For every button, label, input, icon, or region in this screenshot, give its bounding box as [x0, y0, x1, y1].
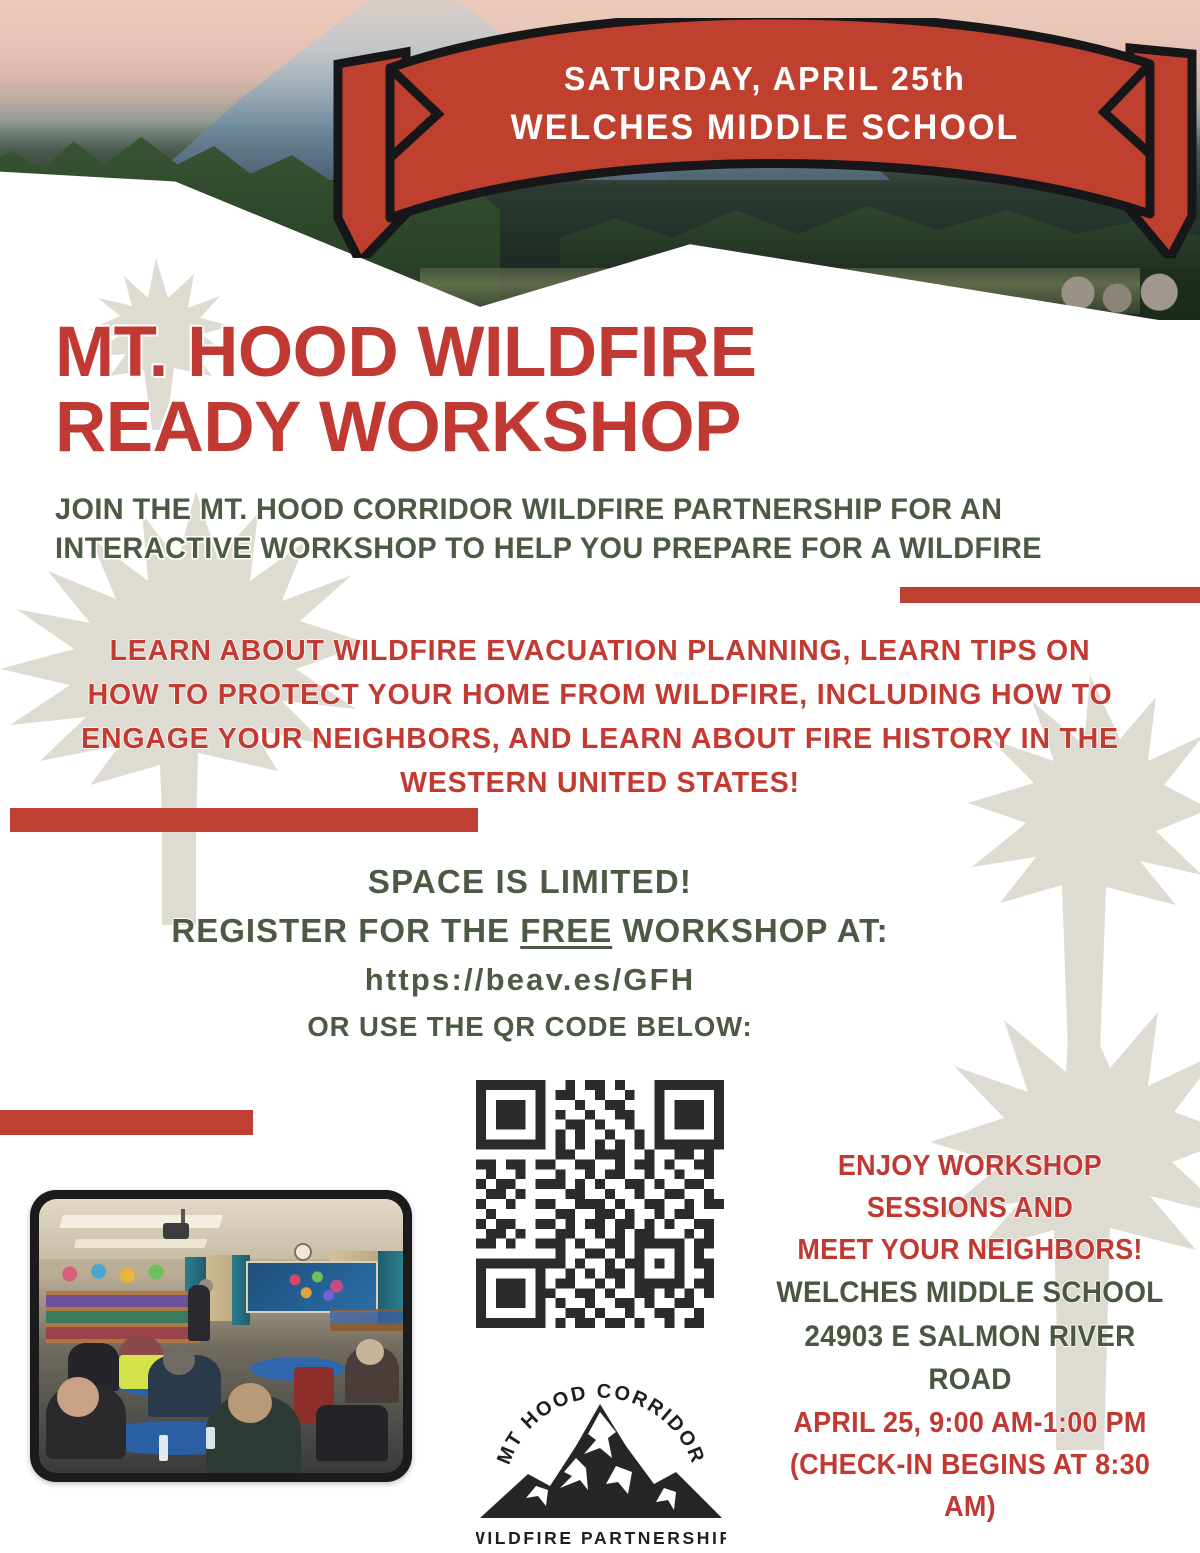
photo-slide-map: [279, 1269, 359, 1305]
photo-attendee-3-head: [228, 1383, 272, 1423]
subtitle: JOIN THE MT. HOOD CORRIDOR WILDFIRE PART…: [55, 490, 1133, 568]
page-title-line2: READY WORKSHOP: [55, 390, 955, 465]
banner-text-block: SATURDAY, APRIL 25th WELCHES MIDDLE SCHO…: [343, 56, 1187, 153]
info-datetime: APRIL 25, 9:00 AM-1:00 PM: [775, 1402, 1166, 1444]
classroom-photo-frame: [30, 1190, 412, 1482]
body-line2: HOW TO PROTECT YOUR HOME FROM WILDFIRE, …: [30, 674, 1170, 718]
subtitle-line2: INTERACTIVE WORKSHOP TO HELP YOU PREPARE…: [55, 529, 1133, 568]
photo-attendee-2-head: [163, 1345, 195, 1375]
photo-ceiling-light-2: [74, 1239, 208, 1248]
photo-presenter: [188, 1285, 210, 1341]
info-line-1: ENJOY WORKSHOP SESSIONS AND: [775, 1145, 1166, 1229]
register-instruction: REGISTER FOR THE FREE WORKSHOP AT:: [150, 906, 910, 956]
info-line-2: MEET YOUR NEIGHBORS!: [775, 1229, 1166, 1271]
classroom-photo: [39, 1199, 403, 1473]
body-line4: WESTERN UNITED STATES!: [30, 762, 1170, 806]
info-address: 24903 E SALMON RIVER ROAD: [775, 1315, 1166, 1402]
page-title: MT. HOOD WILDFIRE READY WORKSHOP: [55, 315, 955, 466]
photo-chair: [316, 1405, 389, 1461]
registration-url-link[interactable]: https://beav.es/GFH: [150, 955, 910, 1005]
space-limited-text: SPACE IS LIMITED!: [150, 858, 910, 906]
photo-projector: [163, 1223, 189, 1239]
photo-water-bottle-2: [206, 1427, 215, 1449]
body-line3: ENGAGE YOUR NEIGHBORS, AND LEARN ABOUT F…: [30, 718, 1170, 762]
register-free-emphasis: FREE: [520, 912, 612, 949]
photo-wall-clock: [294, 1243, 312, 1261]
registration-block: SPACE IS LIMITED! REGISTER FOR THE FREE …: [150, 858, 910, 1049]
accent-bar-right: [900, 587, 1200, 603]
qr-code-note: OR USE THE QR CODE BELOW:: [150, 1005, 910, 1049]
photo-attendee-6-head: [356, 1339, 384, 1365]
photo-water-bottle-1: [159, 1435, 168, 1461]
register-prefix: REGISTER FOR THE: [171, 912, 520, 949]
mt-hood-corridor-logo-icon: MT HOOD CORRIDOR WILDFIRE PARTNERSHIP: [476, 1368, 726, 1548]
photo-wall-posters: [54, 1261, 185, 1287]
qr-code[interactable]: [476, 1080, 724, 1328]
photo-bookshelf-right: [330, 1309, 403, 1331]
accent-bar-mid-left: [10, 808, 478, 832]
info-venue: WELCHES MIDDLE SCHOOL: [775, 1271, 1166, 1315]
photo-ceiling-light: [59, 1215, 223, 1228]
page-title-line1: MT. HOOD WILDFIRE: [55, 315, 955, 390]
organization-logo: MT HOOD CORRIDOR WILDFIRE PARTNERSHIP: [476, 1368, 726, 1548]
photo-ceiling: [39, 1199, 403, 1259]
logo-bottom-text: WILDFIRE PARTNERSHIP: [476, 1528, 726, 1548]
register-suffix: WORKSHOP AT:: [612, 912, 888, 949]
banner-date-line: SATURDAY, APRIL 25th: [343, 56, 1187, 103]
flyer-poster: SATURDAY, APRIL 25th WELCHES MIDDLE SCHO…: [0, 0, 1200, 1553]
body-line1: LEARN ABOUT WILDFIRE EVACUATION PLANNING…: [30, 630, 1170, 674]
accent-bar-lower-left: [0, 1110, 253, 1135]
info-checkin: (CHECK-IN BEGINS AT 8:30 AM): [775, 1444, 1166, 1528]
banner-venue-line: WELCHES MIDDLE SCHOOL: [343, 103, 1187, 153]
photo-attendee-1-head: [57, 1377, 99, 1417]
event-details-block: ENJOY WORKSHOP SESSIONS AND MEET YOUR NE…: [760, 1145, 1180, 1528]
red-ribbon-banner: SATURDAY, APRIL 25th WELCHES MIDDLE SCHO…: [330, 18, 1200, 258]
subtitle-line1: JOIN THE MT. HOOD CORRIDOR WILDFIRE PART…: [55, 490, 1133, 529]
body-paragraph: LEARN ABOUT WILDFIRE EVACUATION PLANNING…: [30, 630, 1170, 806]
qr-code-icon[interactable]: [476, 1080, 724, 1328]
photo-bookshelf: [46, 1291, 199, 1343]
